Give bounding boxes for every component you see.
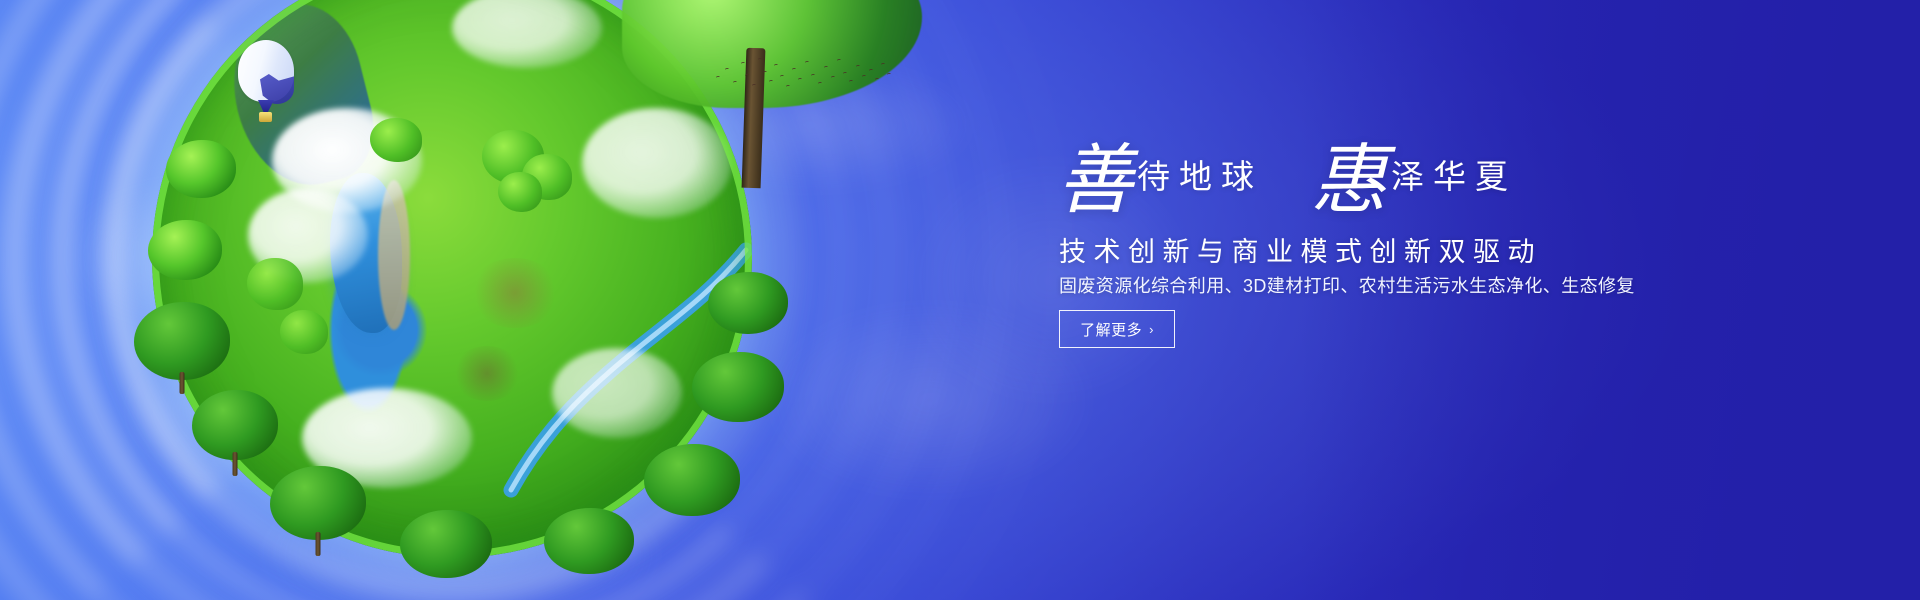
rim-tree [192, 376, 278, 460]
bush [280, 310, 328, 354]
headline-rest-1: 待地球 [1137, 160, 1263, 196]
rim-tree [166, 128, 236, 198]
lake-shore [378, 180, 410, 330]
soil-patch [452, 346, 522, 401]
bush [482, 130, 544, 184]
surface-cloud [552, 348, 682, 438]
balloon-neck [258, 100, 274, 112]
bush [370, 118, 422, 162]
bush [498, 172, 542, 212]
surface-cloud [452, 0, 602, 68]
headline-char-1: 善 [1057, 139, 1133, 223]
balloon-basket [259, 112, 272, 122]
learn-more-label: 了解更多 [1080, 319, 1142, 340]
surface-cloud [248, 188, 368, 283]
rim-tree [270, 450, 366, 540]
hero-tagline: 技术创新与商业模式创新双驱动 [1059, 230, 1542, 269]
chevron-right-icon: › [1149, 322, 1154, 337]
hot-air-balloon [238, 40, 298, 126]
bird-flock [712, 50, 892, 100]
hero-text-block: 善待地球惠泽华夏 技术创新与商业模式创新双驱动 固废资源化综合利用、3D建材打印… [1057, 0, 1817, 600]
rim-tree [400, 498, 492, 578]
bush [247, 258, 303, 310]
bush [522, 154, 572, 200]
headline-rest-2: 泽华夏 [1391, 160, 1517, 196]
river [416, 210, 716, 460]
headline-char-2: 惠 [1311, 139, 1387, 223]
hero-description: 固废资源化综合利用、3D建材打印、农村生活污水生态净化、生态修复 [1059, 272, 1635, 298]
rim-tree [134, 288, 230, 380]
page-title: 善待地球惠泽华夏 [1057, 143, 1817, 243]
rim-tree [692, 336, 784, 422]
rim-tree [644, 428, 740, 516]
lake [330, 173, 402, 333]
hero-banner: 善待地球惠泽华夏 技术创新与商业模式创新双驱动 固废资源化综合利用、3D建材打印… [0, 0, 1920, 600]
learn-more-button[interactable]: 了解更多 › [1059, 310, 1175, 348]
cloud-wisp [760, 300, 1100, 500]
rim-tree [148, 208, 222, 280]
rim-tree [544, 494, 634, 574]
rim-tree [708, 258, 788, 334]
soil-patch [470, 258, 560, 328]
